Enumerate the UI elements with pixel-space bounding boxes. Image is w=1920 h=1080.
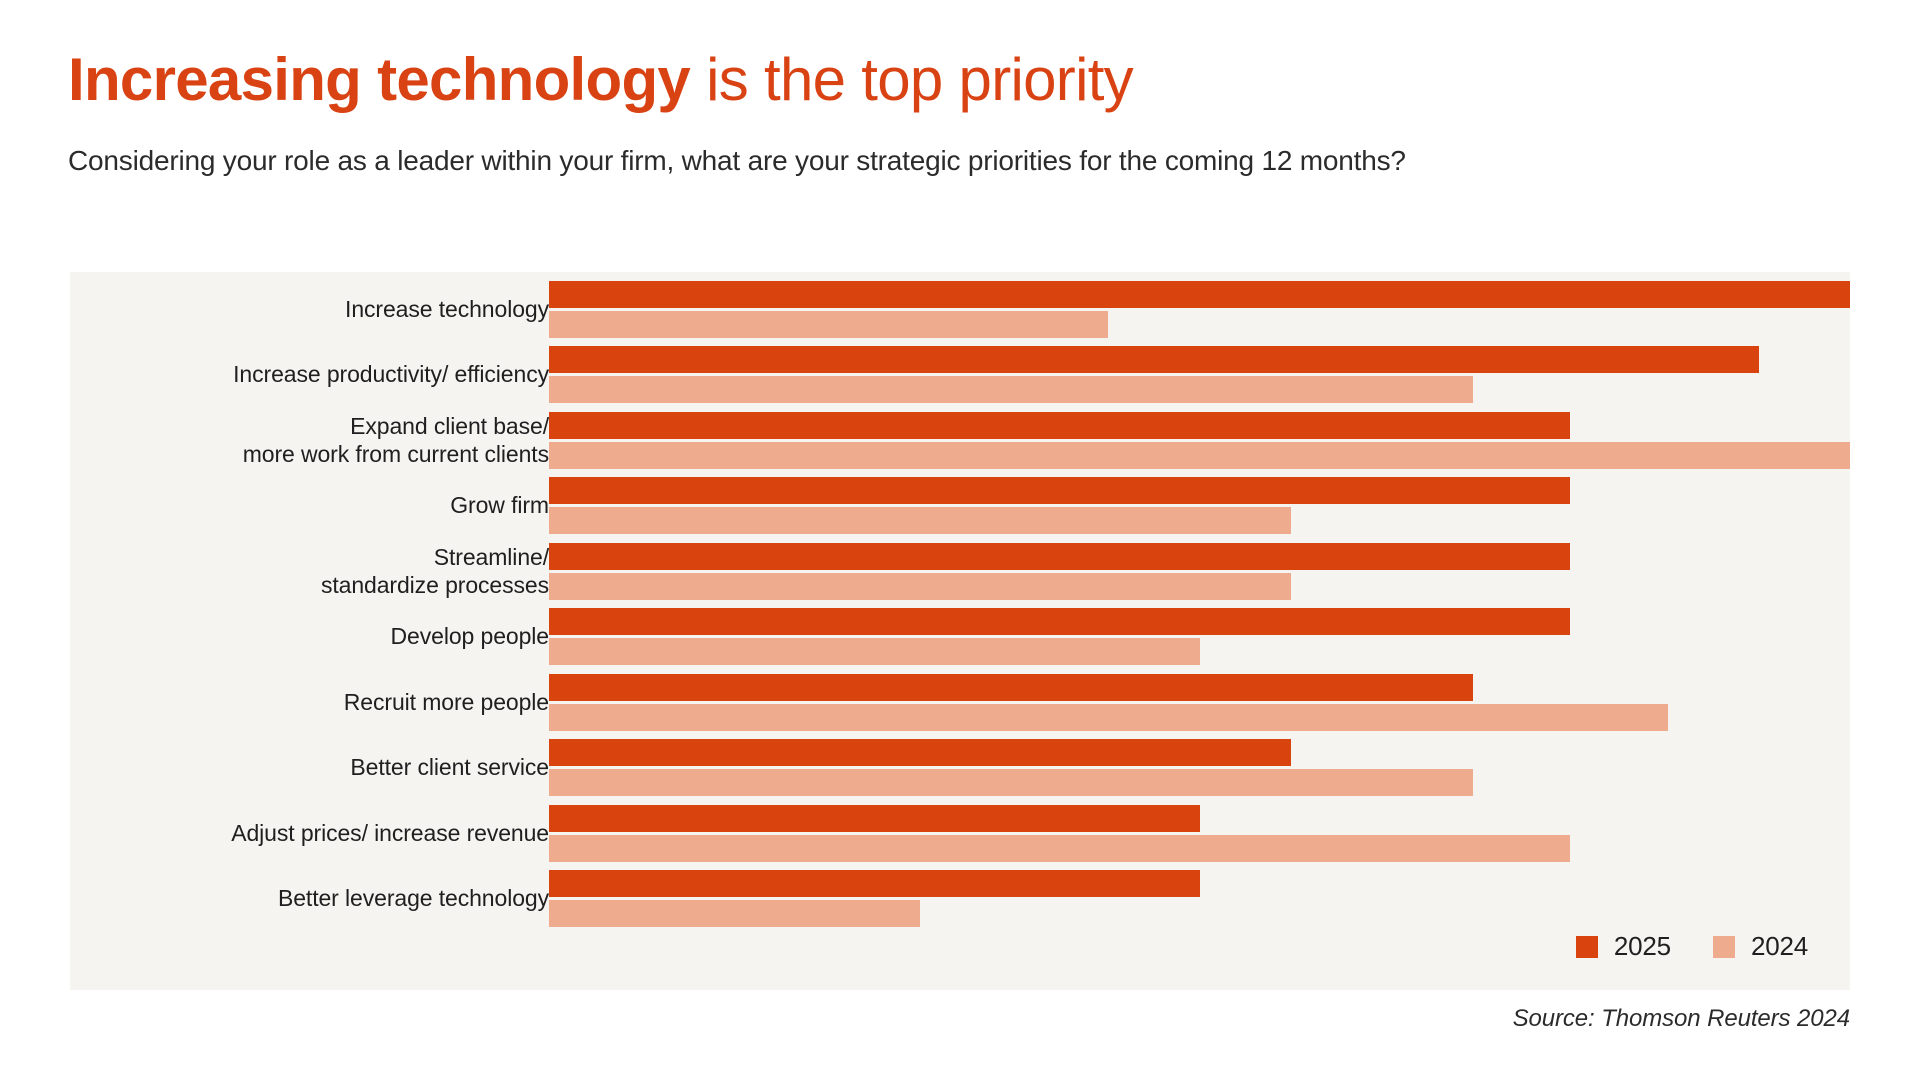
chart-row: Streamline/standardize processes: [70, 540, 1850, 602]
bar-2025[interactable]: [549, 412, 1570, 439]
bar-2025[interactable]: [549, 870, 1200, 897]
chart-row: Recruit more people: [70, 671, 1850, 733]
bar-2024[interactable]: [549, 442, 1850, 469]
category-label: Grow firm: [89, 475, 549, 537]
chart-row: Increase productivity/ efficiency: [70, 344, 1850, 406]
bar-2024[interactable]: [549, 573, 1291, 600]
category-label: Better client service: [89, 737, 549, 799]
chart-header: Increasing technology is the top priorit…: [68, 48, 1858, 178]
category-label: Increase technology: [89, 278, 549, 340]
chart-row: Increase technology: [70, 278, 1850, 340]
chart-legend: 2025 2024: [1576, 931, 1808, 962]
legend-item-2024[interactable]: 2024: [1713, 931, 1808, 962]
bar-group: [549, 737, 1850, 799]
chart-row: Adjust prices/ increase revenue: [70, 802, 1850, 864]
bar-2024[interactable]: [549, 900, 920, 927]
category-label: Recruit more people: [89, 671, 549, 733]
legend-swatch-2025-icon: [1576, 936, 1598, 958]
chart-page: Increasing technology is the top priorit…: [0, 0, 1920, 1080]
bar-2024[interactable]: [549, 311, 1108, 338]
bar-2025[interactable]: [549, 543, 1570, 570]
legend-label-2024: 2024: [1751, 931, 1808, 962]
category-label-line: Grow firm: [450, 491, 549, 519]
category-label: Adjust prices/ increase revenue: [89, 802, 549, 864]
bar-group: [549, 540, 1850, 602]
category-label: Expand client base/more work from curren…: [89, 409, 549, 471]
bar-2024[interactable]: [549, 704, 1668, 731]
legend-label-2025: 2025: [1614, 931, 1671, 962]
bar-group: [549, 475, 1850, 537]
page-title-rest: is the top priority: [690, 46, 1133, 113]
bar-group: [549, 409, 1850, 471]
category-label-line: Streamline/: [434, 543, 549, 571]
bar-2025[interactable]: [549, 346, 1759, 373]
category-label-line: Better client service: [350, 753, 549, 781]
page-title: Increasing technology is the top priorit…: [68, 48, 1858, 113]
bar-2025[interactable]: [549, 805, 1200, 832]
bar-2025[interactable]: [549, 739, 1291, 766]
bar-chart-plot: Increase technologyIncrease productivity…: [70, 272, 1850, 990]
category-label-line: Recruit more people: [344, 688, 549, 716]
bar-2024[interactable]: [549, 835, 1570, 862]
chart-row: Expand client base/more work from curren…: [70, 409, 1850, 471]
bar-2024[interactable]: [549, 376, 1473, 403]
bar-group: [549, 868, 1850, 930]
category-label-line: Adjust prices/ increase revenue: [231, 819, 549, 847]
bar-2024[interactable]: [549, 769, 1473, 796]
category-label-line: Develop people: [391, 622, 549, 650]
category-label-line: standardize processes: [321, 571, 549, 599]
bar-2025[interactable]: [549, 608, 1570, 635]
category-label-line: more work from current clients: [243, 440, 549, 468]
chart-row: Grow firm: [70, 475, 1850, 537]
bar-2025[interactable]: [549, 674, 1473, 701]
legend-swatch-2024-icon: [1713, 936, 1735, 958]
chart-row: Better leverage technology: [70, 868, 1850, 930]
chart-row: Develop people: [70, 606, 1850, 668]
page-title-emphasis: Increasing technology: [68, 46, 690, 113]
category-label: Develop people: [89, 606, 549, 668]
source-note: Source: Thomson Reuters 2024: [1513, 1005, 1850, 1033]
category-label-line: Increase productivity/ efficiency: [233, 360, 549, 388]
bar-group: [549, 344, 1850, 406]
category-label: Increase productivity/ efficiency: [89, 344, 549, 406]
chart-subtitle: Considering your role as a leader within…: [68, 113, 1858, 178]
chart-row: Better client service: [70, 737, 1850, 799]
bar-2025[interactable]: [549, 281, 1850, 308]
category-label-line: Expand client base/: [350, 412, 549, 440]
bar-group: [549, 802, 1850, 864]
legend-item-2025[interactable]: 2025: [1576, 931, 1671, 962]
category-label: Streamline/standardize processes: [89, 540, 549, 602]
chart-panel: Increase technologyIncrease productivity…: [70, 272, 1850, 990]
category-label-line: Increase technology: [345, 295, 549, 323]
bar-group: [549, 606, 1850, 668]
category-label-line: Better leverage technology: [278, 884, 549, 912]
bar-group: [549, 671, 1850, 733]
bar-group: [549, 278, 1850, 340]
category-label: Better leverage technology: [89, 868, 549, 930]
bar-2025[interactable]: [549, 477, 1570, 504]
bar-2024[interactable]: [549, 638, 1200, 665]
bar-2024[interactable]: [549, 507, 1291, 534]
